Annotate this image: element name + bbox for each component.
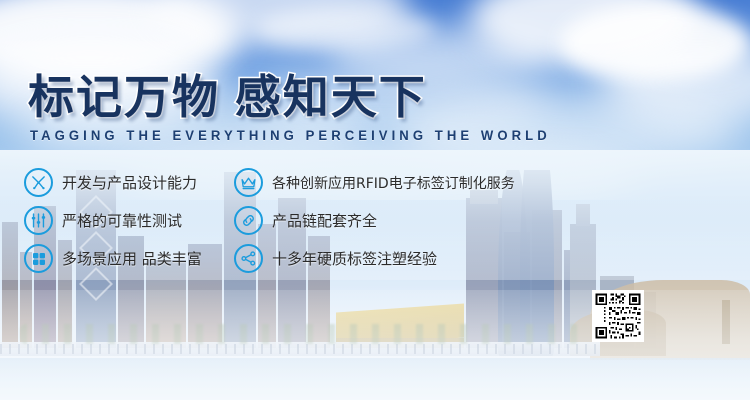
feature-item-product-chain: 产品链配套齐全 xyxy=(234,206,624,235)
page-title: 标记万物 感知天下 xyxy=(28,74,427,120)
feature-item-molding-experience: 十多年硬质标签注塑经验 xyxy=(234,244,624,273)
tools-icon xyxy=(24,168,53,197)
feature-row: 多场景应用 品类丰富 十多年硬质标签注塑经验 xyxy=(24,244,624,273)
feature-row: 严格的可靠性测试 产品链配套齐全 xyxy=(24,206,624,235)
feature-label: 十多年硬质标签注塑经验 xyxy=(272,248,437,269)
crown-icon xyxy=(234,168,263,197)
feature-list: 开发与产品设计能力 各种创新应用RFID电子标签订制化服务 xyxy=(24,168,624,282)
page-subtitle: TAGGING THE EVERYTHING PERCEIVING THE WO… xyxy=(30,128,551,143)
feature-item-development: 开发与产品设计能力 xyxy=(24,168,234,197)
grid-icon xyxy=(24,244,53,273)
waterfront xyxy=(0,358,750,400)
feature-item-multi-scenario: 多场景应用 品类丰富 xyxy=(24,244,234,273)
qr-code[interactable] xyxy=(592,290,644,342)
feature-item-rfid-customization: 各种创新应用RFID电子标签订制化服务 xyxy=(234,168,624,197)
feature-label: 开发与产品设计能力 xyxy=(62,172,197,193)
link-icon xyxy=(234,206,263,235)
feature-label: 多场景应用 品类丰富 xyxy=(62,248,202,269)
feature-row: 开发与产品设计能力 各种创新应用RFID电子标签订制化服务 xyxy=(24,168,624,197)
sliders-icon xyxy=(24,206,53,235)
feature-item-reliability-testing: 严格的可靠性测试 xyxy=(24,206,234,235)
feature-label: 各种创新应用RFID电子标签订制化服务 xyxy=(272,173,515,193)
feature-label: 严格的可靠性测试 xyxy=(62,210,182,231)
promotional-banner: 标记万物 感知天下 TAGGING THE EVERYTHING PERCEIV… xyxy=(0,0,750,400)
qr-code-image xyxy=(594,292,642,340)
feature-label: 产品链配套齐全 xyxy=(272,210,377,231)
share-icon xyxy=(234,244,263,273)
